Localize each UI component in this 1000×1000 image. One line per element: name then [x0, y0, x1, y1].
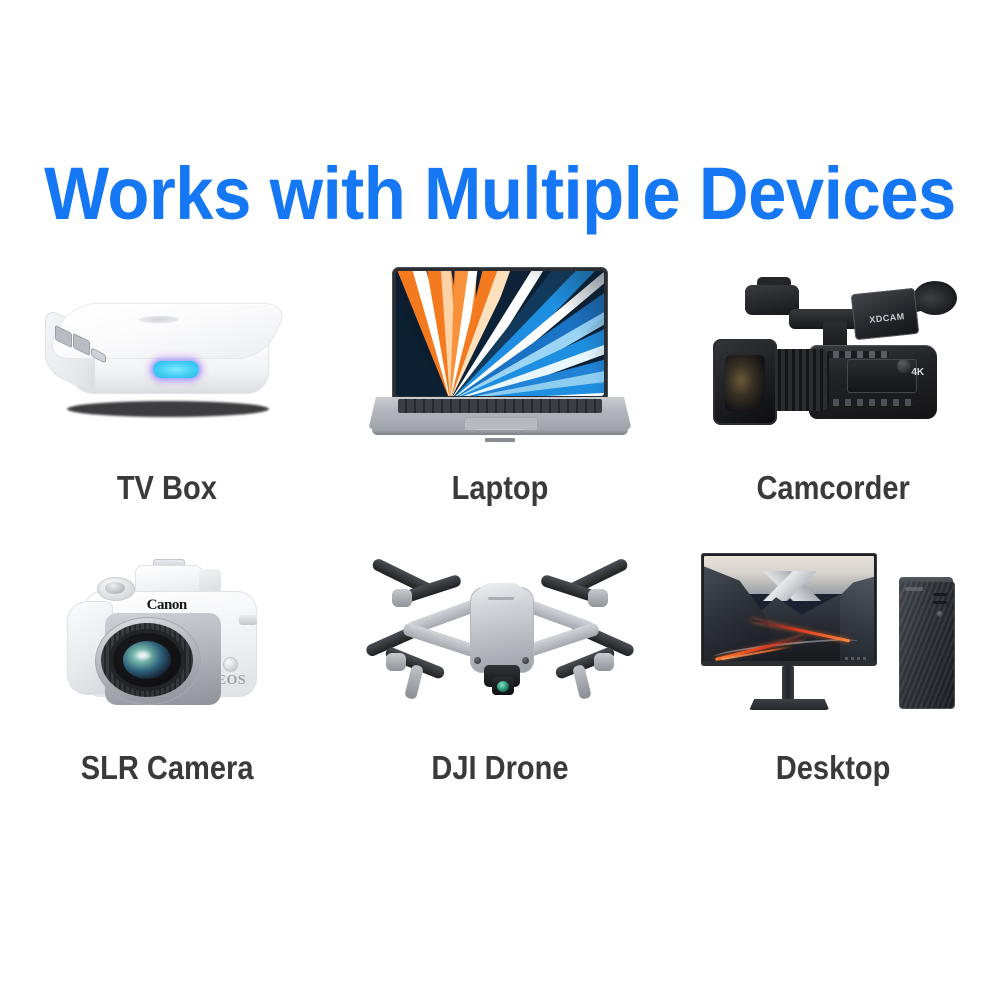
device-label-dji-drone: DJI Drone — [431, 749, 568, 787]
drone-motor — [392, 589, 412, 607]
page-title: Works with Multiple Devices — [35, 154, 965, 234]
device-card-dji-drone[interactable]: DJI Drone — [333, 535, 666, 815]
monitor-stand-neck — [782, 666, 794, 702]
drone-landing-leg — [404, 664, 424, 700]
drone-motor — [386, 653, 406, 671]
laptop-foot — [372, 430, 628, 435]
tv-box-icon — [17, 255, 317, 467]
drone-motor — [594, 653, 614, 671]
camera-series-text: EOS — [217, 673, 247, 689]
camcorder-4k-badge: 4K — [911, 367, 924, 378]
device-card-laptop[interactable]: Laptop — [333, 255, 666, 535]
device-label-laptop: Laptop — [452, 469, 549, 507]
monitor-stand-base — [749, 699, 829, 710]
camcorder-lens-glass — [725, 355, 765, 411]
laptop-screen — [396, 271, 604, 396]
device-label-camcorder: Camcorder — [757, 469, 910, 507]
camcorder-button-row-bottom — [821, 399, 917, 406]
wallpaper-road — [708, 607, 871, 662]
tv-box-shadow — [67, 401, 269, 417]
device-label-slr-camera: SLR Camera — [80, 749, 253, 787]
monitor-control-buttons[interactable] — [845, 657, 867, 660]
laptop-icon — [350, 255, 650, 467]
desktop-icon — [683, 535, 983, 747]
device-card-tv-box[interactable]: TV Box — [0, 255, 333, 535]
drone-icon — [350, 535, 650, 747]
tv-box-led-indicator — [153, 361, 199, 378]
camera-dial-inner — [105, 582, 125, 594]
device-label-tv-box: TV Box — [117, 469, 217, 507]
drone-arm — [524, 622, 600, 658]
camera-rear-button — [223, 657, 238, 672]
laptop-brand-logo — [485, 438, 515, 442]
drone-sensor — [522, 657, 529, 664]
camera-port-cover — [239, 615, 257, 625]
camera-lens-highlight — [135, 650, 153, 661]
camcorder-icon: XDCAM 4K — [683, 255, 983, 467]
drone-camera-lens — [497, 681, 509, 692]
camcorder-eyecup — [913, 281, 957, 315]
camera-brand-text: Canon — [147, 597, 187, 614]
pc-tower — [899, 581, 955, 709]
device-grid: TV Box Laptop — [0, 255, 1000, 815]
drone-motor — [588, 589, 608, 607]
drone-sensor — [474, 657, 481, 664]
drone-vent — [488, 597, 514, 600]
monitor — [701, 553, 877, 665]
laptop-keyboard — [398, 399, 602, 413]
drone-landing-leg — [572, 664, 592, 700]
pc-tower-slot — [933, 601, 947, 604]
device-card-slr-camera[interactable]: Canon EOS SLR Camera — [0, 535, 333, 815]
device-card-desktop[interactable]: Desktop — [667, 535, 1000, 815]
device-card-camcorder[interactable]: XDCAM 4K Camcorder — [667, 255, 1000, 535]
monitor-screen — [704, 556, 874, 662]
camcorder-button-row-top — [821, 351, 889, 358]
drone-body-top — [478, 583, 524, 609]
pc-tower-slot — [933, 593, 947, 596]
laptop-lid — [392, 267, 608, 400]
camera-viewfinder — [199, 569, 221, 593]
drone-arm — [402, 622, 478, 658]
device-label-desktop: Desktop — [776, 749, 891, 787]
slr-camera-icon: Canon EOS — [17, 535, 317, 747]
pc-tower-logo — [905, 587, 923, 591]
